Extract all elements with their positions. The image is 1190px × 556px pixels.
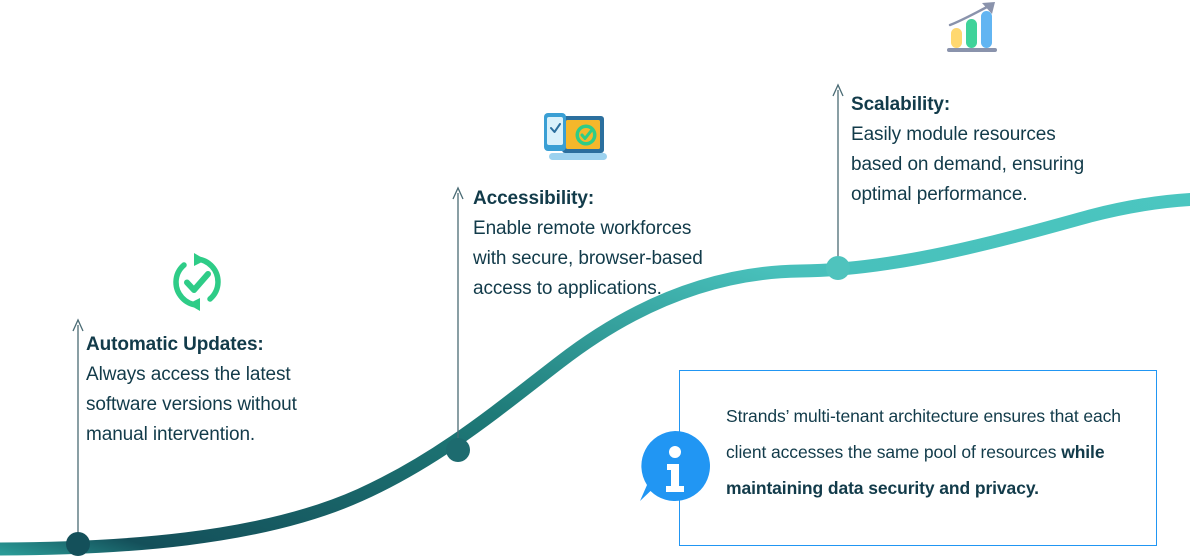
refresh-check-icon (166, 251, 228, 313)
callout-automatic-updates: Automatic Updates: Always access the lat… (86, 330, 297, 450)
callout-body-line: Easily module resources (851, 120, 1084, 150)
callout-body-line: based on demand, ensuring (851, 150, 1084, 180)
callout-heading: Accessibility: (473, 184, 703, 214)
callout-accessibility: Accessibility: Enable remote workforces … (473, 184, 703, 304)
infographic-canvas: Automatic Updates: Always access the lat… (0, 0, 1190, 556)
connector-scalability (833, 85, 843, 268)
connector-automatic-updates (73, 320, 83, 544)
callout-body-line: Always access the latest (86, 360, 297, 390)
info-speech-bubble-icon (637, 428, 713, 504)
laptop-mobile-check-icon (539, 108, 609, 168)
callout-heading: Automatic Updates: (86, 330, 297, 360)
callout-body-line: optimal performance. (851, 180, 1084, 210)
curve-marker-automatic-updates (66, 532, 90, 556)
curve-marker-scalability (826, 256, 850, 280)
callout-body-line: access to applications. (473, 274, 703, 304)
callout-scalability: Scalability: Easily module resources bas… (851, 90, 1084, 210)
callout-body: Enable remote workforces with secure, br… (473, 214, 703, 304)
callout-body: Always access the latest software versio… (86, 360, 297, 450)
callout-body-line: Enable remote workforces (473, 214, 703, 244)
callout-body: Easily module resources based on demand,… (851, 120, 1084, 210)
callout-body-line: software versions without (86, 390, 297, 420)
info-callout-text: Strands’ multi-tenant architecture ensur… (726, 398, 1126, 506)
callout-body-line: manual intervention. (86, 420, 297, 450)
callout-body-line: with secure, browser-based (473, 244, 703, 274)
callout-heading: Scalability: (851, 90, 1084, 120)
growth-bar-chart-icon (937, 0, 1007, 58)
connector-accessibility (453, 188, 463, 450)
curve-marker-accessibility (446, 438, 470, 462)
